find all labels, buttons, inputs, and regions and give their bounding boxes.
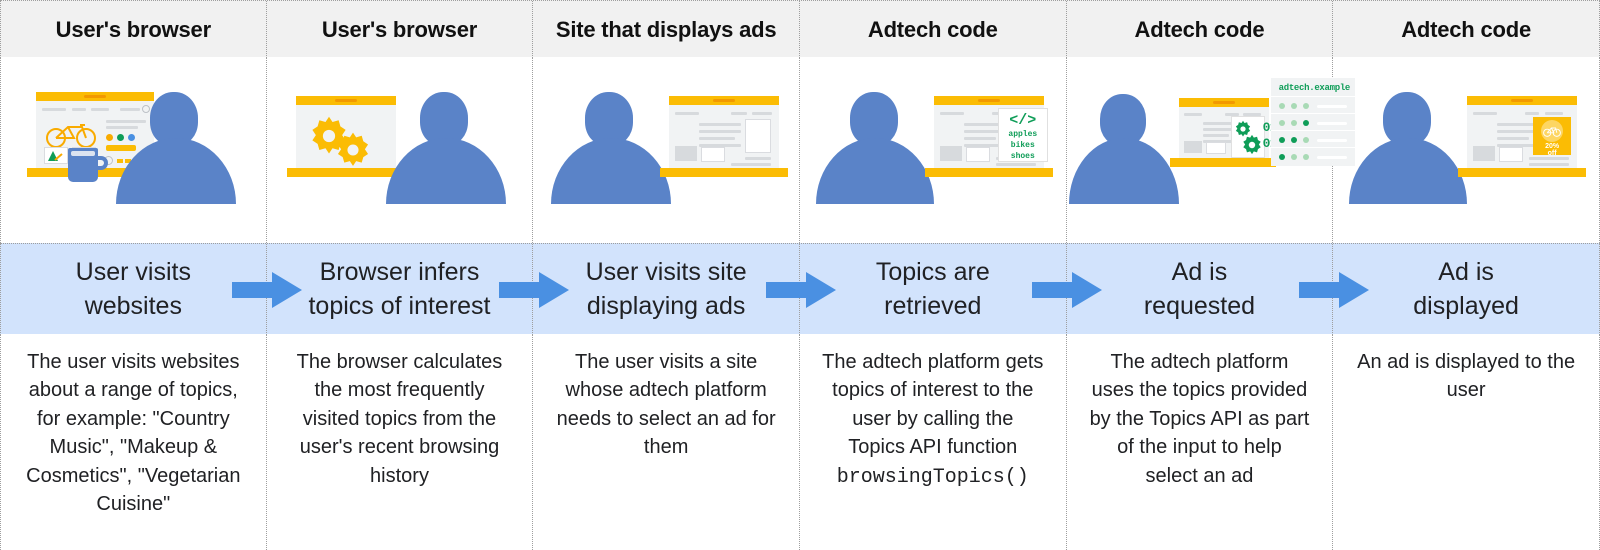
step-line: User visits site: [586, 258, 747, 286]
description-cell-3: The user visits a site whose adtech plat…: [533, 334, 800, 550]
code-symbol-label: </>: [999, 112, 1047, 129]
illustration-cell-4: </> apples bikes shoes: [800, 57, 1067, 243]
step-line: Topics are: [876, 258, 990, 286]
step-label: Browser infers topics of interest: [292, 256, 506, 323]
person-icon: [386, 92, 506, 182]
illustration-cell-2: [267, 57, 534, 243]
description-cell-5: The adtech platform uses the topics prov…: [1067, 334, 1334, 550]
step-line: websites: [85, 292, 182, 320]
displayed-ad-creative: 20% off: [1533, 117, 1571, 155]
description-cell-6: An ad is displayed to the user: [1333, 334, 1600, 550]
column-header-label: User's browser: [56, 17, 211, 43]
code-topic-label: shoes: [999, 152, 1047, 161]
step-line: Browser infers: [320, 258, 480, 286]
description-cell-1: The user visits websites about a range o…: [0, 334, 267, 550]
person-at-site-calling-adtech-server-icon: 0110 0111 adtech.example: [1067, 70, 1333, 230]
illustration-cell-6: 20% off: [1333, 57, 1600, 243]
ad-discount-sub-label: off: [1533, 150, 1571, 157]
gear-icon: [334, 131, 372, 169]
step-line: Ad is: [1438, 258, 1494, 286]
illustration-cell-1: [0, 57, 267, 243]
step-line: retrieved: [884, 292, 981, 320]
description-text: The user visits a site whose adtech plat…: [533, 348, 799, 462]
step-cell-6: Ad is displayed: [1333, 244, 1600, 335]
column-header-label: User's browser: [322, 17, 477, 43]
illustration-cell-3: [533, 57, 800, 243]
column-header-label: Adtech code: [1401, 17, 1531, 43]
step-cell-1: User visits websites: [0, 244, 267, 335]
topics-api-flow-diagram: User's browser User's browser Site that …: [0, 0, 1600, 550]
column-header-label: Site that displays ads: [556, 17, 777, 43]
step-line: requested: [1144, 292, 1255, 320]
person-at-browser-shopping-icon: [8, 70, 258, 230]
step-cell-2: Browser infers topics of interest: [267, 244, 534, 335]
description-text: The user visits websites about a range o…: [1, 348, 266, 518]
person-icon: [551, 92, 671, 182]
column-header-cell: Adtech code: [800, 1, 1067, 58]
description-cell-2: The browser calculates the most frequent…: [267, 334, 534, 550]
ad-discount-label: 20%: [1533, 143, 1571, 150]
description-text: The adtech platform uses the topics prov…: [1067, 348, 1333, 490]
column-header-cell: Adtech code: [1067, 1, 1334, 58]
description-text: An ad is displayed to the user: [1333, 348, 1599, 405]
person-icon: [816, 92, 934, 182]
description-text: The browser calculates the most frequent…: [267, 348, 533, 490]
step-label: User visits site displaying ads: [570, 256, 763, 323]
description-prose: The adtech platform gets topics of inter…: [822, 351, 1043, 458]
code-topic-label: bikes: [999, 141, 1047, 150]
column-header-cell: Adtech code: [1333, 1, 1600, 58]
illustration-cell-5: 0110 0111 adtech.example: [1067, 57, 1334, 243]
person-at-browser-gears-icon: [274, 70, 524, 230]
illustration-row: </> apples bikes shoes: [0, 57, 1600, 243]
person-icon: [1069, 94, 1179, 182]
ad-slot-placeholder: [745, 119, 771, 153]
step-cell-3: User visits site displaying ads: [533, 244, 800, 335]
description-text: The adtech platform gets topics of inter…: [800, 348, 1066, 492]
step-label: Topics are retrieved: [860, 256, 1006, 323]
column-header-label: Adtech code: [1135, 17, 1265, 43]
column-header-cell: User's browser: [267, 1, 534, 58]
step-line: displayed: [1413, 292, 1519, 320]
person-at-site-with-ad-slot-icon: [541, 70, 791, 230]
code-topic-label: apples: [999, 130, 1047, 139]
ad-slot-placeholder: [701, 147, 725, 162]
step-cell-4: Topics are retrieved: [800, 244, 1067, 335]
column-header-label: Adtech code: [868, 17, 998, 43]
column-header-cell: User's browser: [0, 1, 267, 58]
step-label: Ad is requested: [1128, 256, 1271, 323]
person-at-site-with-code-topics-icon: </> apples bikes shoes: [808, 70, 1058, 230]
step-label: Ad is displayed: [1397, 256, 1535, 323]
api-function-name: browsingTopics(): [837, 466, 1029, 489]
person-icon: [116, 92, 236, 182]
description-cell-4: The adtech platform gets topics of inter…: [800, 334, 1067, 550]
code-topics-card: </> apples bikes shoes: [998, 108, 1048, 162]
step-line: Ad is: [1172, 258, 1228, 286]
step-label: User visits websites: [60, 256, 207, 323]
description-row: The user visits websites about a range o…: [0, 334, 1600, 550]
person-at-site-with-displayed-ad-icon: 20% off: [1341, 70, 1591, 230]
step-line: topics of interest: [308, 292, 490, 320]
step-cell-5: Ad is requested: [1067, 244, 1334, 335]
step-band-row: User visits websites Browser infers topi…: [0, 243, 1600, 334]
gears-request-card: [1231, 116, 1265, 158]
step-line: displaying ads: [587, 292, 745, 320]
step-line: User visits: [76, 258, 191, 286]
header-row: User's browser User's browser Site that …: [0, 0, 1600, 57]
column-header-cell: Site that displays ads: [533, 1, 800, 58]
person-icon: [1349, 92, 1467, 182]
